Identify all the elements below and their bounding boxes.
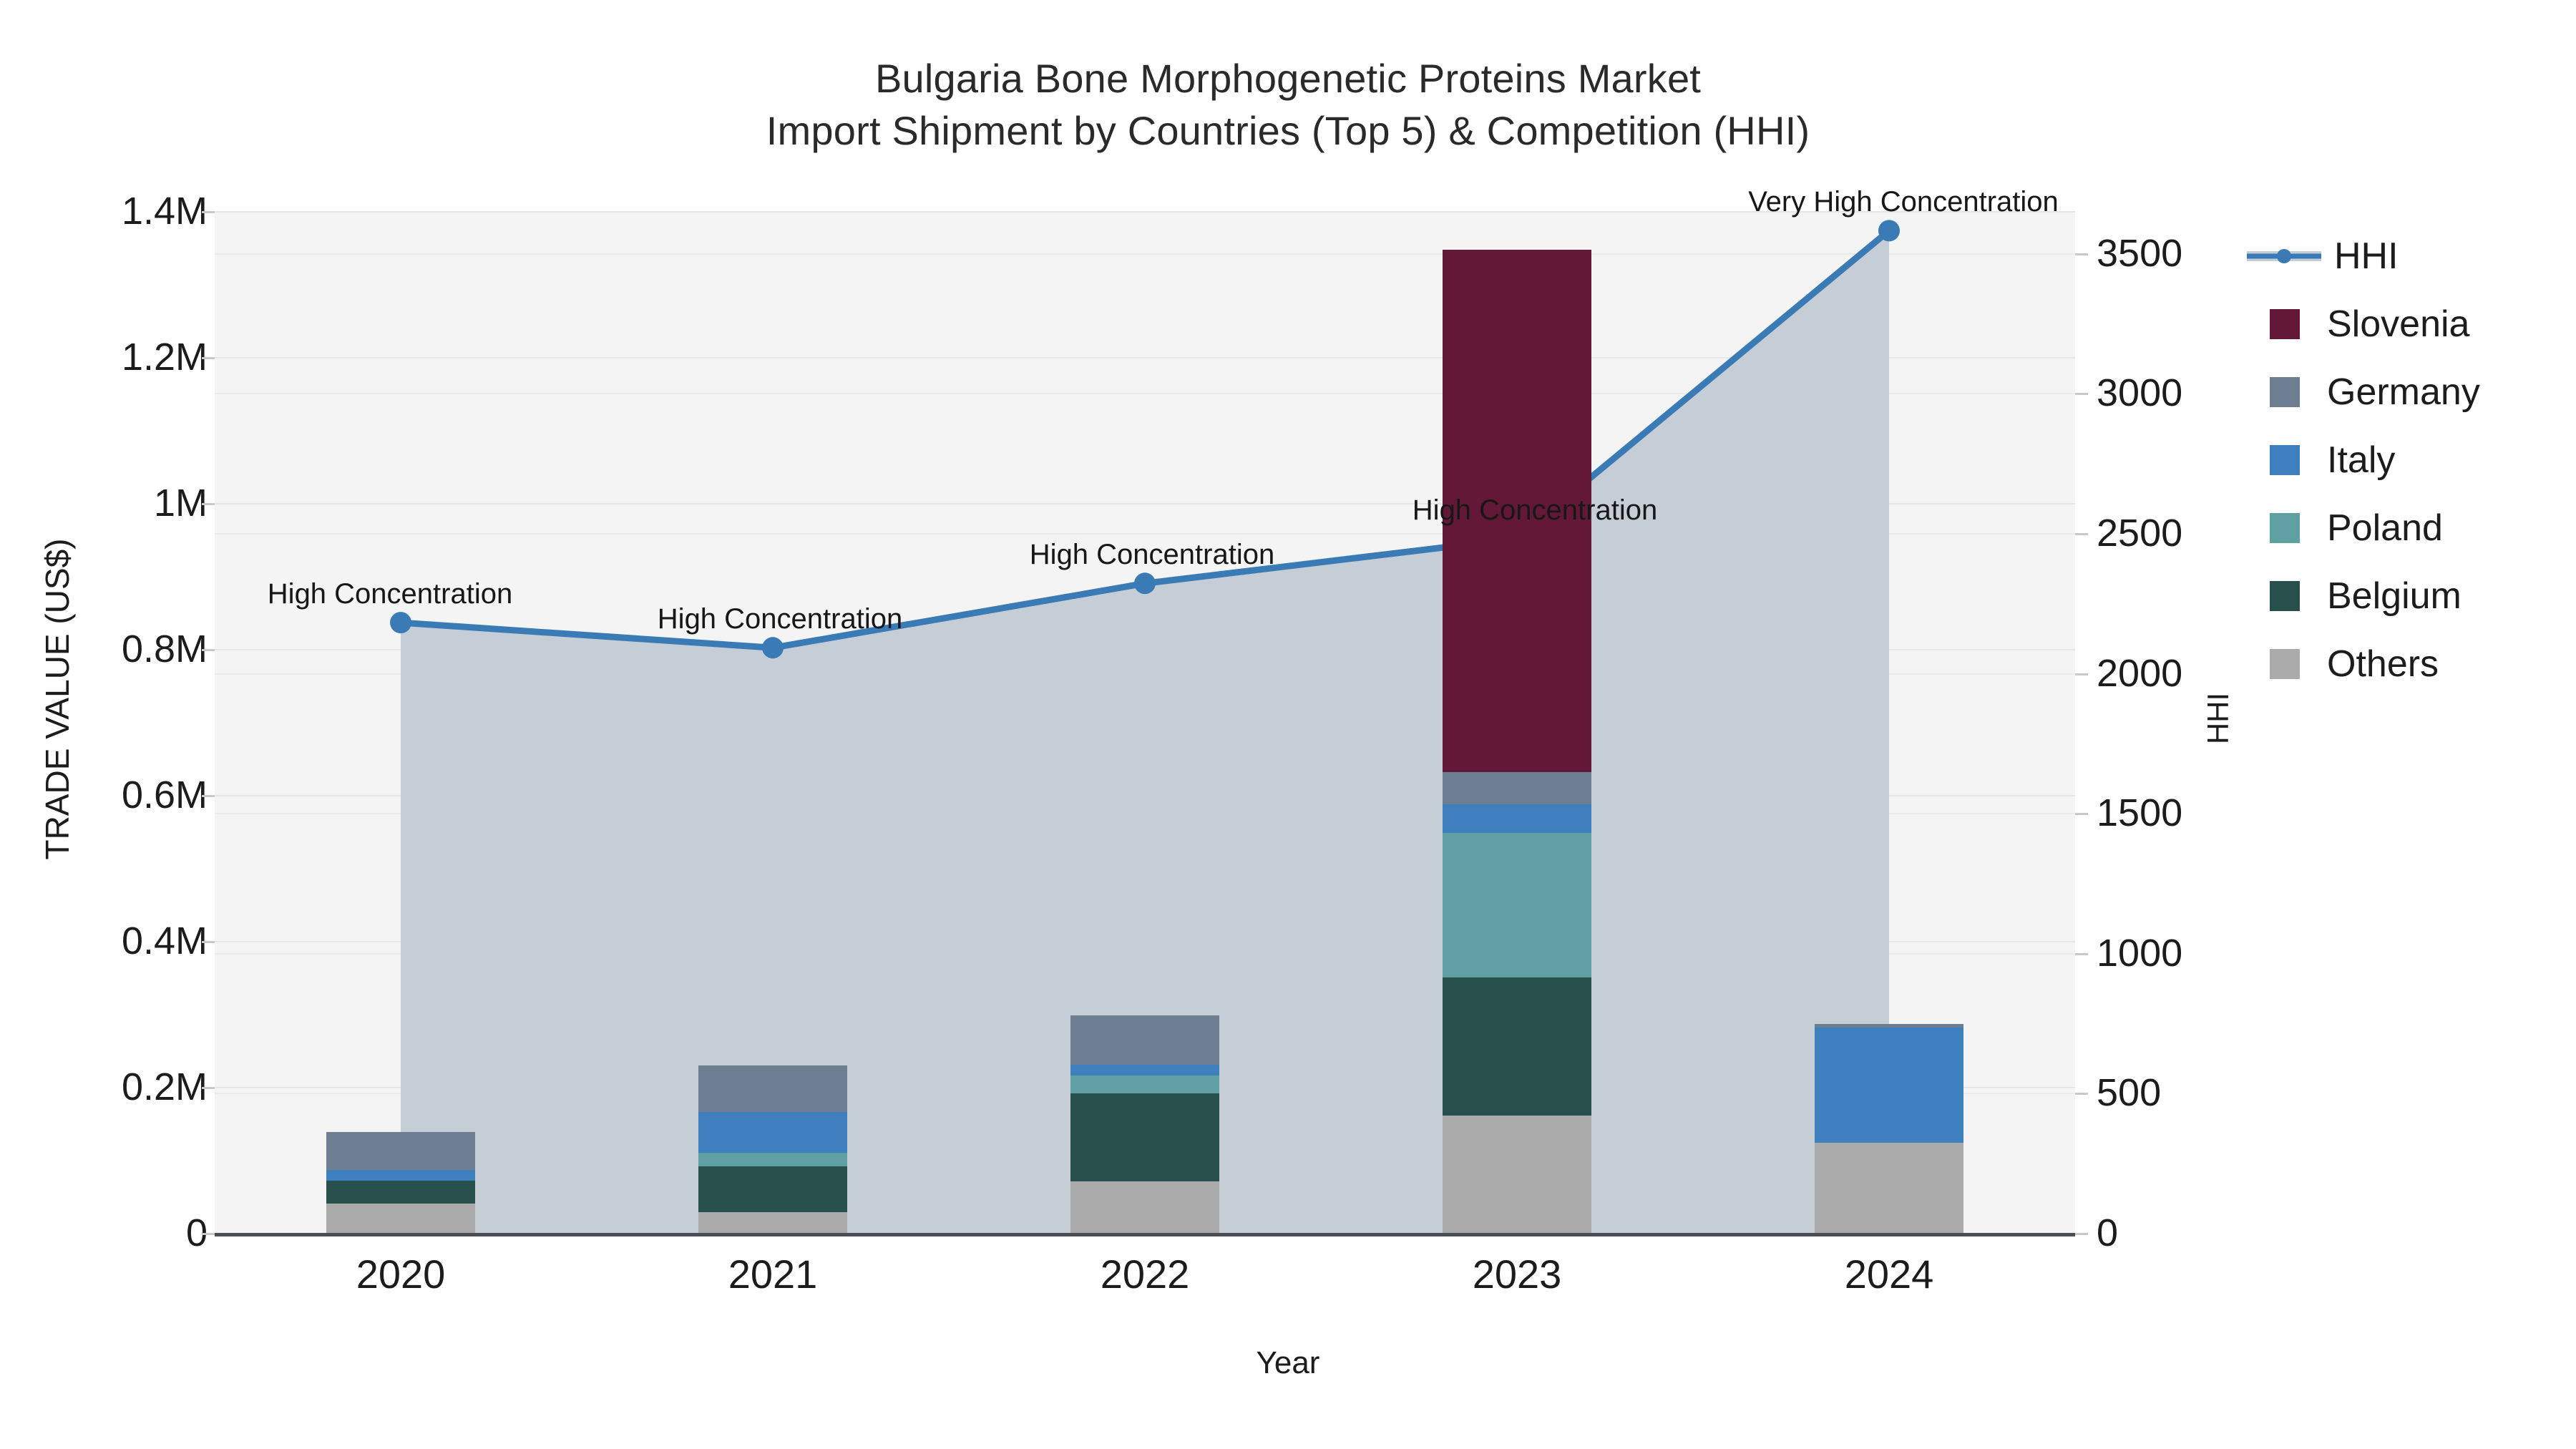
annotation-2022: High Concentration bbox=[1030, 539, 1274, 571]
bar-segment-others[interactable] bbox=[1815, 1143, 1963, 1233]
legend-item-others[interactable]: Others bbox=[2254, 630, 2576, 698]
legend-swatch-germany bbox=[2270, 377, 2300, 407]
annotation-2021: High Concentration bbox=[658, 603, 902, 635]
y-tick-left-0: 0 bbox=[21, 1211, 208, 1255]
legend-item-germany[interactable]: Germany bbox=[2254, 358, 2576, 426]
legend-swatch-slovenia bbox=[2270, 309, 2300, 339]
y-tick-left-1.2M: 1.2M bbox=[21, 335, 208, 379]
y-axis-left-title: TRADE VALUE (US$) bbox=[38, 427, 77, 971]
legend-label-germany: Germany bbox=[2327, 371, 2480, 414]
y-tick-left-1.4M: 1.4M bbox=[21, 189, 208, 233]
bar-2020[interactable] bbox=[326, 1132, 475, 1233]
bar-segment-poland[interactable] bbox=[698, 1153, 847, 1166]
bar-segment-others[interactable] bbox=[326, 1204, 475, 1233]
legend-label-hhi: HHI bbox=[2334, 235, 2399, 278]
bar-2024[interactable] bbox=[1815, 1024, 1963, 1233]
y-tick-mark-right bbox=[2075, 393, 2088, 395]
bar-segment-poland[interactable] bbox=[1070, 1075, 1219, 1094]
x-tick-2023: 2023 bbox=[1388, 1251, 1646, 1297]
legend-dot bbox=[2277, 249, 2291, 263]
legend-swatch-italy bbox=[2270, 445, 2300, 475]
plot-area bbox=[215, 211, 2075, 1233]
y-tick-mark-right bbox=[2075, 533, 2088, 535]
chart-subtitle: Import Shipment by Countries (Top 5) & C… bbox=[0, 105, 2576, 157]
y-tick-mark-left bbox=[202, 649, 215, 651]
bar-2022[interactable] bbox=[1070, 1015, 1219, 1233]
bar-segment-italy[interactable] bbox=[1443, 804, 1591, 833]
legend-label-others: Others bbox=[2327, 643, 2439, 686]
y-tick-mark-right bbox=[2075, 673, 2088, 675]
bar-segment-belgium[interactable] bbox=[1070, 1093, 1219, 1181]
bar-segment-italy[interactable] bbox=[1815, 1028, 1963, 1142]
y-tick-mark-left bbox=[202, 503, 215, 505]
y-tick-mark-left bbox=[202, 357, 215, 359]
bar-segment-others[interactable] bbox=[1070, 1181, 1219, 1233]
bar-segment-belgium[interactable] bbox=[1443, 977, 1591, 1116]
legend-swatch-belgium bbox=[2270, 581, 2300, 611]
y-tick-mark-left bbox=[202, 941, 215, 943]
bar-segment-germany[interactable] bbox=[1070, 1015, 1219, 1065]
legend-item-slovenia[interactable]: Slovenia bbox=[2254, 290, 2576, 358]
stacked-bars bbox=[215, 211, 2075, 1233]
bar-segment-poland[interactable] bbox=[1443, 833, 1591, 977]
y-tick-mark-right bbox=[2075, 1233, 2088, 1235]
legend-label-poland: Poland bbox=[2327, 507, 2443, 550]
legend: HHISloveniaGermanyItalyPolandBelgiumOthe… bbox=[2254, 222, 2576, 698]
bar-segment-italy[interactable] bbox=[326, 1170, 475, 1180]
legend-label-slovenia: Slovenia bbox=[2327, 303, 2469, 346]
legend-swatch-poland bbox=[2270, 513, 2300, 543]
bar-segment-belgium[interactable] bbox=[698, 1166, 847, 1212]
x-axis-title: Year bbox=[0, 1345, 2576, 1381]
y-tick-mark-left bbox=[202, 1233, 215, 1235]
y-tick-left-0.2M: 0.2M bbox=[21, 1065, 208, 1109]
legend-item-belgium[interactable]: Belgium bbox=[2254, 562, 2576, 630]
bar-segment-germany[interactable] bbox=[326, 1132, 475, 1170]
annotation-2023: High Concentration bbox=[1413, 494, 1657, 527]
y-tick-mark-right bbox=[2075, 1093, 2088, 1095]
x-axis-line bbox=[215, 1233, 2075, 1236]
bar-segment-others[interactable] bbox=[1443, 1116, 1591, 1233]
x-tick-2022: 2022 bbox=[1016, 1251, 1274, 1297]
chart-canvas: Bulgaria Bone Morphogenetic Proteins Mar… bbox=[0, 0, 2576, 1449]
bar-2021[interactable] bbox=[698, 1065, 847, 1233]
y-axis-right-title: HHI bbox=[2201, 625, 2235, 811]
y-tick-right-1000: 1000 bbox=[2097, 931, 2311, 975]
y-tick-right-500: 500 bbox=[2097, 1070, 2311, 1115]
annotation-2020: High Concentration bbox=[268, 578, 512, 610]
bar-segment-italy[interactable] bbox=[698, 1112, 847, 1153]
legend-label-belgium: Belgium bbox=[2327, 575, 2462, 618]
bar-segment-italy[interactable] bbox=[1070, 1065, 1219, 1075]
y-tick-mark-right bbox=[2075, 813, 2088, 815]
legend-item-italy[interactable]: Italy bbox=[2254, 426, 2576, 494]
y-tick-mark-right bbox=[2075, 953, 2088, 955]
bar-2023[interactable] bbox=[1443, 250, 1591, 1233]
legend-swatch-others bbox=[2270, 649, 2300, 679]
x-tick-2024: 2024 bbox=[1760, 1251, 2018, 1297]
y-tick-mark-left bbox=[202, 795, 215, 797]
x-tick-2021: 2021 bbox=[644, 1251, 902, 1297]
legend-item-poland[interactable]: Poland bbox=[2254, 494, 2576, 562]
bar-segment-others[interactable] bbox=[698, 1212, 847, 1233]
bar-segment-germany[interactable] bbox=[698, 1065, 847, 1111]
y-tick-mark-left bbox=[202, 1087, 215, 1089]
bar-segment-belgium[interactable] bbox=[326, 1181, 475, 1204]
y-tick-mark-right bbox=[2075, 253, 2088, 255]
bar-segment-germany[interactable] bbox=[1443, 772, 1591, 804]
chart-title: Bulgaria Bone Morphogenetic Proteins Mar… bbox=[875, 56, 1701, 101]
annotation-2024: Very High Concentration bbox=[1748, 186, 2059, 218]
y-tick-right-0: 0 bbox=[2097, 1211, 2311, 1255]
chart-title-block: Bulgaria Bone Morphogenetic Proteins Mar… bbox=[0, 53, 2576, 157]
y-tick-mark-left bbox=[202, 211, 215, 213]
x-tick-2020: 2020 bbox=[272, 1251, 530, 1297]
legend-line-marker-icon bbox=[2247, 241, 2321, 271]
legend-item-hhi[interactable]: HHI bbox=[2254, 222, 2576, 290]
legend-label-italy: Italy bbox=[2327, 439, 2395, 482]
